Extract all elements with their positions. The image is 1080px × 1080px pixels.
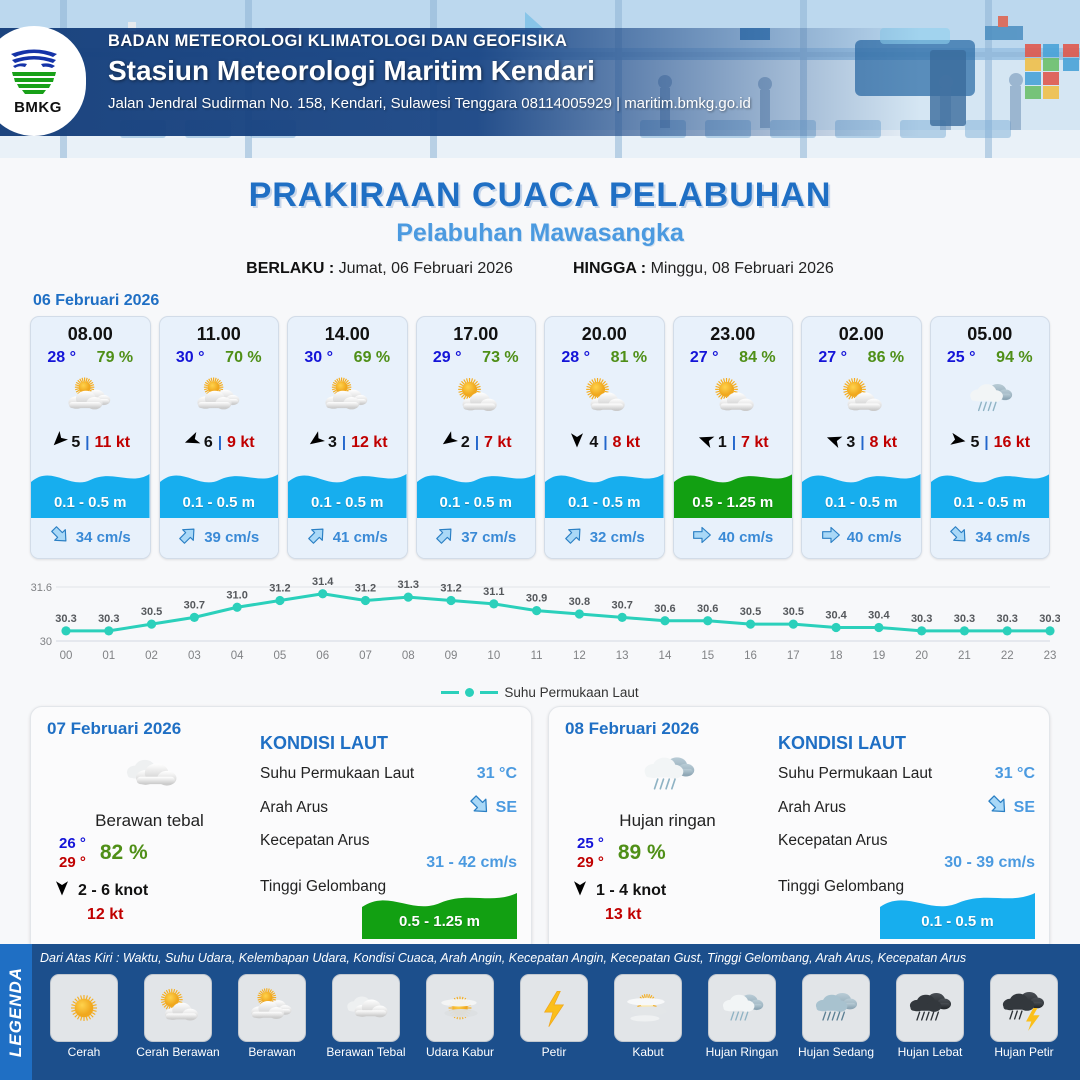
forecast-card: 02.00 27 ° 86 % 3 | 8 kt 0.1 - 0.5 m — [801, 316, 922, 559]
wave-band: 0.5 - 1.25 m — [674, 460, 793, 518]
daily-forecast-card: 08 Februari 2026 Hujan ringan 25 ° 29 ° … — [548, 706, 1050, 954]
svg-text:30: 30 — [40, 636, 52, 648]
forecast-card: 14.00 30 ° 69 % 3 | 12 kt — [287, 316, 408, 559]
weather-icon-berawan-tebal — [47, 741, 252, 807]
legend-dot-icon — [465, 688, 474, 697]
wave-height: 0.1 - 0.5 m — [31, 494, 150, 511]
wave-height: 0.1 - 0.5 m — [545, 494, 664, 511]
wind-direction-value: 2 — [461, 434, 470, 452]
weather-icon-hujan-ringan — [708, 974, 776, 1042]
legend-item-label: Kabut — [632, 1045, 663, 1059]
current-speed-value: 31 - 42 cm/s — [260, 854, 517, 872]
bmkg-emblem-icon — [3, 46, 65, 98]
card-humidity: 86 % — [868, 349, 904, 367]
weather-icon-cerah-berawan — [545, 367, 664, 429]
card-humidity: 84 % — [739, 349, 775, 367]
sst-chart-svg: 31.63030.30030.30130.50230.70331.00431.2… — [20, 573, 1060, 683]
station-name: Stasiun Meteorologi Maritim Kendari — [108, 55, 751, 87]
card-time: 08.00 — [31, 317, 150, 345]
card-humidity: 73 % — [482, 349, 518, 367]
svg-text:01: 01 — [102, 650, 115, 662]
wind-direction-value: 1 — [718, 434, 727, 452]
legend-item: Hujan Ringan — [698, 974, 786, 1059]
forecast-card: 17.00 29 ° 73 % 2 | 7 kt 0.1 - 0.5 m — [416, 316, 537, 559]
valid-to-label: HINGGA : — [573, 260, 646, 277]
legend-item-label: Berawan Tebal — [326, 1045, 405, 1059]
wave-height: 0.1 - 0.5 m — [160, 494, 279, 511]
current-direction-arrow-icon — [987, 794, 1009, 821]
legend-item: Kabut — [604, 974, 692, 1059]
svg-text:12: 12 — [573, 650, 586, 662]
weather-icon-berawan — [238, 974, 306, 1042]
current-direction-arrow-icon — [692, 525, 712, 550]
svg-text:30.3: 30.3 — [911, 613, 932, 625]
svg-text:30.7: 30.7 — [184, 599, 205, 611]
current-direction-value: SE — [496, 799, 517, 817]
weather-icon-cerah-berawan — [674, 367, 793, 429]
wave-band: 0.1 - 0.5 m — [545, 460, 664, 518]
wind-direction-value: 5 — [71, 434, 80, 452]
card-humidity: 94 % — [996, 349, 1032, 367]
wind-separator: | — [860, 434, 864, 451]
legend-item-label: Hujan Petir — [994, 1045, 1053, 1059]
wind-direction-arrow-icon — [568, 431, 586, 454]
weather-icon-kabut — [614, 974, 682, 1042]
svg-text:30.5: 30.5 — [783, 606, 804, 618]
current-direction-arrow-icon — [50, 525, 70, 550]
svg-text:18: 18 — [830, 650, 843, 662]
weather-icon-hujan-sedang — [802, 974, 870, 1042]
svg-text:31.3: 31.3 — [398, 579, 419, 591]
sst-label: Suhu Permukaan Laut — [778, 765, 932, 783]
wind-separator: | — [603, 434, 607, 451]
chart-legend: Suhu Permukaan Laut — [0, 685, 1080, 700]
legend-item: Hujan Petir — [980, 974, 1068, 1059]
svg-text:30.3: 30.3 — [997, 613, 1018, 625]
svg-text:04: 04 — [231, 650, 244, 662]
card-temperature: 30 ° — [176, 349, 205, 367]
card-time: 20.00 — [545, 317, 664, 345]
svg-text:30.3: 30.3 — [1039, 613, 1060, 625]
sea-conditions-title: KONDISI LAUT — [778, 733, 1035, 754]
current-direction-arrow-icon — [564, 525, 584, 550]
wave-band: 0.1 - 0.5 m — [31, 460, 150, 518]
wind-direction-arrow-icon — [825, 431, 843, 454]
svg-text:30.7: 30.7 — [611, 599, 632, 611]
chart-legend-label: Suhu Permukaan Laut — [504, 685, 638, 700]
legend-item-list: Cerah Cerah Berawan Berawan — [40, 974, 1074, 1059]
legend-item-label: Cerah — [68, 1045, 101, 1059]
weather-icon-udara-kabur — [426, 974, 494, 1042]
svg-text:13: 13 — [616, 650, 629, 662]
bmkg-logo-text: BMKG — [14, 99, 62, 116]
card-temperature: 28 ° — [47, 349, 76, 367]
valid-from-label: BERLAKU : — [246, 260, 334, 277]
card-time: 14.00 — [288, 317, 407, 345]
weather-icon-berawan-tebal — [332, 974, 400, 1042]
current-speed: 37 cm/s — [461, 529, 516, 546]
svg-text:23: 23 — [1044, 650, 1057, 662]
svg-text:20: 20 — [915, 650, 928, 662]
current-speed-label: Kecepatan Arus — [260, 832, 369, 849]
legend-item: Berawan Tebal — [322, 974, 410, 1059]
legend-item-label: Hujan Lebat — [898, 1045, 963, 1059]
svg-text:02: 02 — [145, 650, 158, 662]
validity-row: BERLAKU : Jumat, 06 Februari 2026 HINGGA… — [0, 260, 1080, 278]
legend-side-label: LEGENDA — [6, 967, 26, 1057]
card-humidity: 69 % — [354, 349, 390, 367]
card-time: 23.00 — [674, 317, 793, 345]
wind-direction-arrow-icon — [697, 431, 715, 454]
wind-direction-arrow-icon — [440, 431, 458, 454]
svg-text:14: 14 — [659, 650, 672, 662]
daily-forecast-card: 07 Februari 2026 Berawan tebal 26 ° 29 °… — [30, 706, 532, 954]
sst-label: Suhu Permukaan Laut — [260, 765, 414, 783]
svg-text:31.2: 31.2 — [355, 583, 376, 595]
legend-item-label: Berawan — [248, 1045, 295, 1059]
legend-line-icon-2 — [480, 691, 498, 694]
wind-direction-value: 5 — [970, 434, 979, 452]
sst-value: 31 °C — [477, 765, 517, 783]
svg-text:30.5: 30.5 — [740, 606, 761, 618]
wind-direction-value: 3 — [328, 434, 337, 452]
weather-icon-hujan-petir — [990, 974, 1058, 1042]
legend-item-label: Udara Kabur — [426, 1045, 494, 1059]
gust-speed: 12 kt — [351, 434, 387, 452]
current-speed: 41 cm/s — [333, 529, 388, 546]
sea-conditions-title: KONDISI LAUT — [260, 733, 517, 754]
day-condition: Berawan tebal — [47, 811, 252, 831]
wind-direction-arrow-icon — [307, 431, 325, 454]
card-time: 05.00 — [931, 317, 1050, 345]
svg-text:31.1: 31.1 — [483, 586, 504, 598]
weather-icon-berawan — [160, 367, 279, 429]
svg-text:30.3: 30.3 — [98, 613, 119, 625]
svg-text:30.3: 30.3 — [55, 613, 76, 625]
wind-separator: | — [85, 434, 89, 451]
day-temp-min: 26 ° — [59, 835, 86, 852]
forecast-card: 08.00 28 ° 79 % 5 | 11 kt — [30, 316, 151, 559]
current-speed-value: 30 - 39 cm/s — [778, 854, 1035, 872]
weather-icon-cerah-berawan — [144, 974, 212, 1042]
svg-text:22: 22 — [1001, 650, 1014, 662]
wind-separator: | — [475, 434, 479, 451]
day-condition: Hujan ringan — [565, 811, 770, 831]
day-wave-value: 0.5 - 1.25 m — [362, 913, 517, 930]
current-direction-arrow-icon — [435, 525, 455, 550]
weather-icon-berawan — [288, 367, 407, 429]
daily-forecast-panels: 07 Februari 2026 Berawan tebal 26 ° 29 °… — [0, 700, 1080, 954]
forecast-card: 05.00 25 ° 94 % 5 | 16 kt — [930, 316, 1051, 559]
forecast-card: 23.00 27 ° 84 % 1 | 7 kt 0.5 - 1.25 m — [673, 316, 794, 559]
weather-icon-cerah-berawan — [417, 367, 536, 429]
forecast-card: 20.00 28 ° 81 % 4 | 8 kt 0.1 - 0.5 m — [544, 316, 665, 559]
day-wind-speed: 2 - 6 knot — [78, 882, 148, 900]
wind-separator: | — [342, 434, 346, 451]
day-gust: 13 kt — [565, 906, 770, 924]
current-direction-value: SE — [1014, 799, 1035, 817]
wave-height: 0.1 - 0.5 m — [802, 494, 921, 511]
card-time: 02.00 — [802, 317, 921, 345]
weather-icon-petir — [520, 974, 588, 1042]
svg-text:30.8: 30.8 — [569, 596, 590, 608]
wave-band: 0.1 - 0.5 m — [288, 460, 407, 518]
current-direction-arrow-icon — [469, 794, 491, 821]
wind-direction-arrow-icon — [183, 431, 201, 454]
svg-text:17: 17 — [787, 650, 800, 662]
valid-from-value: Jumat, 06 Februari 2026 — [339, 260, 513, 277]
day-wind-arrow-icon — [571, 879, 589, 902]
card-time: 11.00 — [160, 317, 279, 345]
current-direction-label: Arah Arus — [260, 799, 328, 817]
wind-direction-value: 6 — [204, 434, 213, 452]
legend-line-icon — [441, 691, 459, 694]
legend-item: Cerah Berawan — [134, 974, 222, 1059]
svg-text:21: 21 — [958, 650, 971, 662]
legend-item: Hujan Sedang — [792, 974, 880, 1059]
day-temp-max: 29 ° — [59, 854, 86, 871]
svg-text:00: 00 — [60, 650, 73, 662]
current-direction-arrow-icon — [949, 525, 969, 550]
current-direction-arrow-icon — [821, 525, 841, 550]
wave-height: 0.1 - 0.5 m — [288, 494, 407, 511]
current-direction-arrow-icon — [307, 525, 327, 550]
weather-icon-hujan-ringan — [565, 741, 770, 807]
day-wave-value: 0.1 - 0.5 m — [880, 913, 1035, 930]
wind-direction-value: 3 — [846, 434, 855, 452]
day-humidity: 82 % — [100, 841, 148, 865]
wind-direction-value: 4 — [589, 434, 598, 452]
wave-band: 0.1 - 0.5 m — [931, 460, 1050, 518]
valid-to: HINGGA : Minggu, 08 Februari 2026 — [573, 260, 834, 278]
svg-text:07: 07 — [359, 650, 372, 662]
forecast-date-label: 06 Februari 2026 — [33, 292, 1080, 310]
svg-text:19: 19 — [872, 650, 885, 662]
day-wave-band: 0.1 - 0.5 m — [880, 881, 1035, 939]
wind-direction-arrow-icon — [50, 431, 68, 454]
current-direction-label: Arah Arus — [778, 799, 846, 817]
svg-text:15: 15 — [701, 650, 714, 662]
svg-text:09: 09 — [445, 650, 458, 662]
card-humidity: 70 % — [225, 349, 261, 367]
svg-text:30.4: 30.4 — [868, 610, 890, 622]
card-temperature: 27 ° — [690, 349, 719, 367]
current-speed-label: Kecepatan Arus — [778, 832, 887, 849]
wave-height: 0.1 - 0.5 m — [417, 494, 536, 511]
valid-from: BERLAKU : Jumat, 06 Februari 2026 — [246, 260, 513, 278]
card-humidity: 81 % — [611, 349, 647, 367]
day-gust: 12 kt — [47, 906, 252, 924]
svg-text:30.4: 30.4 — [825, 610, 847, 622]
current-speed: 34 cm/s — [975, 529, 1030, 546]
wind-direction-arrow-icon — [949, 431, 967, 454]
day-humidity: 89 % — [618, 841, 666, 865]
legend-item-label: Hujan Sedang — [798, 1045, 874, 1059]
wave-band: 0.1 - 0.5 m — [417, 460, 536, 518]
current-speed: 40 cm/s — [847, 529, 902, 546]
card-temperature: 27 ° — [818, 349, 847, 367]
legend-item: Berawan — [228, 974, 316, 1059]
forecast-card-list: 08.00 28 ° 79 % 5 | 11 kt — [0, 316, 1080, 559]
day-wind-speed: 1 - 4 knot — [596, 882, 666, 900]
gust-speed: 7 kt — [484, 434, 512, 452]
gust-speed: 16 kt — [994, 434, 1030, 452]
day-temp-max: 29 ° — [577, 854, 604, 871]
card-temperature: 29 ° — [433, 349, 462, 367]
legend-item: Udara Kabur — [416, 974, 504, 1059]
valid-to-value: Minggu, 08 Februari 2026 — [651, 260, 834, 277]
svg-text:30.3: 30.3 — [954, 613, 975, 625]
page-header: BMKG BADAN METEOROLOGI KLIMATOLOGI DAN G… — [0, 0, 1080, 158]
svg-text:31.6: 31.6 — [31, 582, 52, 594]
legend-item: Cerah — [40, 974, 128, 1059]
current-speed: 34 cm/s — [76, 529, 131, 546]
legend-item: Hujan Lebat — [886, 974, 974, 1059]
gust-speed: 8 kt — [613, 434, 641, 452]
svg-text:30.9: 30.9 — [526, 593, 547, 605]
svg-text:10: 10 — [487, 650, 500, 662]
svg-text:31.2: 31.2 — [269, 583, 290, 595]
sst-value: 31 °C — [995, 765, 1035, 783]
gust-speed: 11 kt — [95, 434, 131, 452]
sst-chart: 31.63030.30030.30130.50230.70331.00431.2… — [20, 573, 1060, 683]
weather-icon-berawan — [31, 367, 150, 429]
weather-icon-hujan-ringan — [931, 367, 1050, 429]
weather-icon-hujan-lebat — [896, 974, 964, 1042]
card-temperature: 28 ° — [561, 349, 590, 367]
svg-text:05: 05 — [274, 650, 287, 662]
card-humidity: 79 % — [97, 349, 133, 367]
page-subtitle: Pelabuhan Mawasangka — [0, 219, 1080, 248]
wave-height: 0.1 - 0.5 m — [931, 494, 1050, 511]
svg-text:06: 06 — [316, 650, 329, 662]
legend-note: Dari Atas Kiri : Waktu, Suhu Udara, Kele… — [40, 951, 1074, 965]
weather-icon-cerah-berawan — [802, 367, 921, 429]
legend-item: Petir — [510, 974, 598, 1059]
current-direction-arrow-icon — [178, 525, 198, 550]
current-speed: 32 cm/s — [590, 529, 645, 546]
legend-item-label: Hujan Ringan — [706, 1045, 779, 1059]
gust-speed: 8 kt — [870, 434, 898, 452]
day-date: 08 Februari 2026 — [565, 719, 770, 739]
current-speed: 39 cm/s — [204, 529, 259, 546]
card-time: 17.00 — [417, 317, 536, 345]
wind-separator: | — [732, 434, 736, 451]
svg-text:31.0: 31.0 — [226, 589, 247, 601]
wave-band: 0.1 - 0.5 m — [160, 460, 279, 518]
wave-height: 0.5 - 1.25 m — [674, 494, 793, 511]
station-address: Jalan Jendral Sudirman No. 158, Kendari,… — [108, 95, 751, 112]
page-title: PRAKIRAAN CUACA PELABUHAN — [0, 176, 1080, 215]
svg-text:31.2: 31.2 — [440, 583, 461, 595]
day-temp-min: 25 ° — [577, 835, 604, 852]
wave-band: 0.1 - 0.5 m — [802, 460, 921, 518]
wind-separator: | — [218, 434, 222, 451]
svg-text:31.4: 31.4 — [312, 576, 334, 588]
weather-icon-cerah — [50, 974, 118, 1042]
legend-item-label: Cerah Berawan — [136, 1045, 219, 1059]
card-temperature: 30 ° — [304, 349, 333, 367]
legend-side-bar: LEGENDA — [0, 944, 32, 1080]
day-wave-band: 0.5 - 1.25 m — [362, 881, 517, 939]
card-temperature: 25 ° — [947, 349, 976, 367]
legend-footer: LEGENDA Dari Atas Kiri : Waktu, Suhu Uda… — [0, 944, 1080, 1080]
gust-speed: 7 kt — [741, 434, 769, 452]
legend-item-label: Petir — [542, 1045, 567, 1059]
day-date: 07 Februari 2026 — [47, 719, 252, 739]
gust-speed: 9 kt — [227, 434, 255, 452]
svg-text:30.6: 30.6 — [654, 603, 675, 615]
forecast-card: 11.00 30 ° 70 % 6 | 9 kt — [159, 316, 280, 559]
day-wind-arrow-icon — [53, 879, 71, 902]
wind-separator: | — [984, 434, 988, 451]
svg-text:08: 08 — [402, 650, 415, 662]
svg-text:16: 16 — [744, 650, 757, 662]
agency-name: BADAN METEOROLOGI KLIMATOLOGI DAN GEOFIS… — [108, 32, 751, 51]
svg-text:30.6: 30.6 — [697, 603, 718, 615]
svg-text:03: 03 — [188, 650, 201, 662]
current-speed: 40 cm/s — [718, 529, 773, 546]
svg-text:11: 11 — [531, 650, 543, 662]
svg-text:30.5: 30.5 — [141, 606, 162, 618]
